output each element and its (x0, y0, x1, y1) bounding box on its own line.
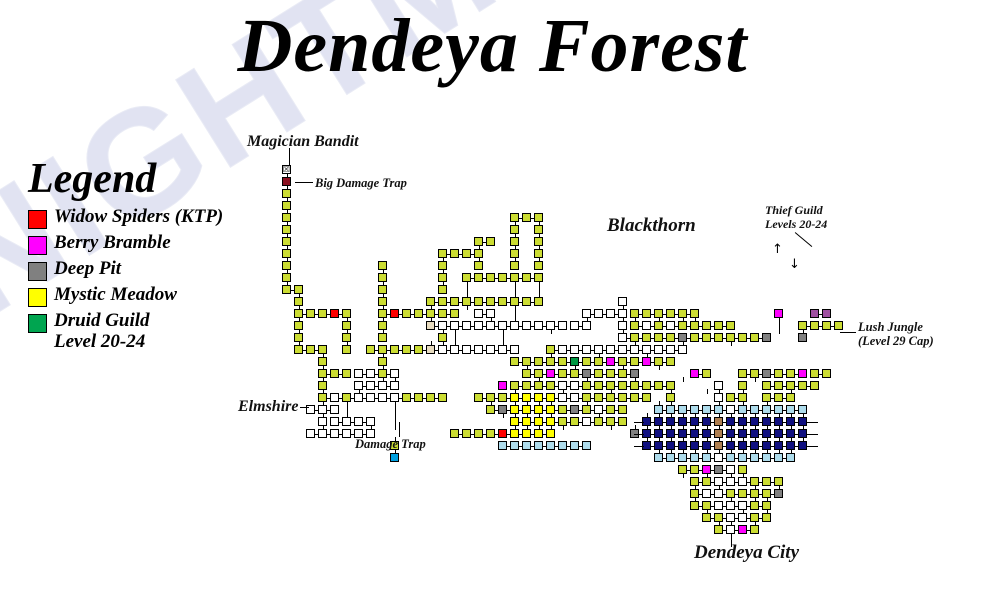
map-corridor (698, 434, 703, 435)
map-corridor (578, 362, 583, 363)
map-corridor (719, 437, 720, 442)
room-south-5[interactable] (762, 513, 771, 522)
map-corridor (638, 398, 643, 399)
map-corridor (566, 446, 571, 447)
room-wc-long[interactable] (438, 393, 447, 402)
room-cw-7[interactable] (618, 417, 627, 426)
map-corridor (506, 446, 511, 447)
room-mc-r[interactable] (534, 261, 543, 270)
map-corridor (602, 410, 607, 411)
room-mc-b[interactable] (474, 261, 483, 270)
map-corridor (626, 374, 631, 375)
map-corridor (674, 458, 679, 459)
map-corridor (614, 362, 619, 363)
room-cw-3b[interactable] (702, 369, 711, 378)
map-corridor (590, 374, 595, 375)
map-corridor (719, 401, 720, 406)
map-corridor (698, 422, 703, 423)
city-exit (806, 446, 818, 447)
map-corridor (518, 398, 523, 399)
map-corridor (755, 377, 756, 382)
map-corridor (719, 413, 720, 418)
map-corridor (287, 209, 288, 214)
map-corridor (458, 302, 463, 303)
map-corridor (743, 401, 744, 406)
map-corridor (662, 434, 667, 435)
map-corridor (695, 413, 696, 418)
map-corridor (707, 449, 708, 454)
map-corridor (662, 326, 667, 327)
map-corridor (482, 326, 487, 327)
map-corridor (530, 410, 535, 411)
map-corridor (626, 398, 631, 399)
map-corridor (470, 350, 475, 351)
map-corridor (566, 398, 571, 399)
room-south-6[interactable] (750, 525, 759, 534)
map-corridor (734, 530, 739, 531)
map-corridor (710, 422, 715, 423)
room-city-south-11[interactable] (786, 453, 795, 462)
map-corridor (731, 449, 732, 454)
room-ne-row3[interactable] (762, 333, 771, 342)
map-corridor (647, 425, 648, 430)
map-corridor (770, 398, 775, 399)
room-ne-row2[interactable] (726, 321, 735, 330)
map-corridor (398, 398, 403, 399)
map-corridor (659, 437, 660, 442)
room-mc-stem[interactable] (510, 261, 519, 270)
map-corridor (671, 449, 672, 454)
map-corridor (674, 326, 679, 327)
label-dendeya-city: Dendeya City (694, 542, 799, 564)
map-corridor (566, 410, 571, 411)
room-lj-3[interactable] (786, 393, 795, 402)
map-corridor (566, 374, 571, 375)
map-corridor (803, 413, 804, 418)
room-cw-1[interactable] (678, 345, 687, 354)
map-corridor (719, 389, 720, 394)
map-corridor (443, 257, 444, 262)
map-corridor (326, 314, 331, 315)
map-corridor (494, 434, 499, 435)
map-corridor (806, 326, 811, 327)
map-corridor (527, 413, 528, 418)
map-corridor (650, 338, 655, 339)
room-mc-c[interactable] (474, 249, 483, 258)
map-corridor (326, 434, 331, 435)
map-corridor (710, 518, 715, 519)
arrow-up-icon: ↑ (772, 243, 783, 256)
map-corridor (287, 221, 288, 226)
map-corridor (758, 506, 763, 507)
map-corridor (302, 314, 307, 315)
map-corridor (482, 302, 487, 303)
map-corridor (770, 482, 775, 483)
map-corridor (470, 254, 475, 255)
map-corridor (446, 314, 451, 315)
map-corridor (650, 422, 655, 423)
city-exit (634, 446, 644, 447)
map-corridor (770, 494, 775, 495)
map-corridor (674, 350, 679, 351)
map-corridor (734, 338, 739, 339)
map-corridor (686, 470, 691, 471)
map-corridor (455, 329, 456, 346)
map-corridor (698, 338, 703, 339)
map-corridor (683, 449, 684, 454)
room-thief-guild[interactable] (822, 309, 831, 318)
map-corridor (482, 278, 487, 279)
map-corridor (710, 458, 715, 459)
map-corridor (746, 410, 751, 411)
map-corridor (350, 434, 355, 435)
map-corridor (551, 413, 552, 418)
map-corridor (710, 506, 715, 507)
map-corridor (434, 350, 439, 351)
map-corridor (770, 422, 775, 423)
map-corridor (470, 278, 475, 279)
leader-damage-trap (399, 422, 400, 437)
map-corridor (539, 245, 540, 250)
map-corridor (527, 425, 528, 430)
map-corridor (527, 401, 528, 406)
map-corridor (647, 437, 648, 442)
map-corridor (782, 422, 787, 423)
map-corridor (722, 482, 727, 483)
map-corridor (614, 410, 619, 411)
map-corridor (494, 302, 499, 303)
map-corridor (383, 293, 384, 298)
map-corridor (698, 494, 703, 495)
map-corridor (710, 494, 715, 495)
leader-lush-jungle (840, 332, 856, 333)
map-corridor (710, 434, 715, 435)
map-corridor (326, 398, 331, 399)
map-corridor (722, 530, 727, 531)
map-corridor (590, 350, 595, 351)
dungeon-map[interactable]: ☒ (0, 0, 985, 591)
map-corridor (287, 233, 288, 238)
map-corridor (734, 494, 739, 495)
map-corridor (782, 458, 787, 459)
room-wc-white[interactable] (510, 345, 519, 354)
map-corridor (722, 518, 727, 519)
map-corridor (434, 398, 439, 399)
map-corridor (722, 326, 727, 327)
map-corridor (722, 446, 727, 447)
map-corridor (794, 410, 799, 411)
map-corridor (770, 374, 775, 375)
map-corridor (722, 458, 727, 459)
map-corridor (590, 314, 595, 315)
map-corridor (602, 362, 607, 363)
map-corridor (398, 350, 403, 351)
map-corridor (770, 434, 775, 435)
map-corridor (794, 446, 799, 447)
map-corridor (671, 401, 672, 406)
map-corridor (362, 398, 367, 399)
map-corridor (710, 326, 715, 327)
map-corridor (539, 401, 540, 406)
map-corridor (506, 302, 511, 303)
map-corridor (794, 422, 799, 423)
map-corridor (554, 446, 559, 447)
room-cw-6[interactable] (618, 405, 627, 414)
room-wc-l[interactable] (378, 333, 387, 342)
map-corridor (506, 326, 511, 327)
room-mc-d[interactable] (438, 285, 447, 294)
map-corridor (326, 374, 331, 375)
map-corridor (779, 437, 780, 442)
map-corridor (734, 446, 739, 447)
map-corridor (467, 281, 468, 298)
map-corridor (650, 434, 655, 435)
room-lj-1[interactable] (810, 381, 819, 390)
map-corridor (671, 437, 672, 442)
map-corridor (674, 422, 679, 423)
room-lightblue-row[interactable] (582, 441, 591, 450)
map-corridor (611, 425, 612, 430)
map-corridor (530, 386, 535, 387)
map-corridor (803, 437, 804, 442)
map-corridor (662, 410, 667, 411)
map-corridor (662, 362, 667, 363)
map-corridor (458, 326, 463, 327)
map-corridor (746, 374, 751, 375)
map-corridor (758, 410, 763, 411)
map-corridor (734, 482, 739, 483)
room-wc-white3[interactable] (390, 381, 399, 390)
map-corridor (686, 434, 691, 435)
room-damage-trap[interactable] (390, 453, 399, 462)
map-corridor (746, 458, 751, 459)
room-cw-5[interactable] (642, 393, 651, 402)
map-corridor (482, 350, 487, 351)
map-corridor (746, 434, 751, 435)
map-corridor (566, 422, 571, 423)
room-mc-a[interactable] (486, 237, 495, 246)
map-corridor (446, 350, 451, 351)
map-corridor (494, 278, 499, 279)
map-corridor (722, 470, 727, 471)
map-corridor (467, 305, 468, 310)
map-corridor (515, 413, 516, 418)
map-corridor (518, 302, 523, 303)
map-corridor (674, 314, 679, 315)
map-corridor (386, 386, 391, 387)
room-lj-5[interactable] (822, 369, 831, 378)
map-corridor (482, 314, 487, 315)
room-bramble-w[interactable] (498, 381, 507, 390)
map-corridor (542, 374, 547, 375)
map-corridor (590, 398, 595, 399)
map-corridor (299, 329, 300, 334)
map-corridor (743, 425, 744, 430)
map-corridor (758, 434, 763, 435)
map-corridor (683, 437, 684, 442)
map-corridor (707, 425, 708, 430)
map-corridor (578, 410, 583, 411)
map-corridor (374, 386, 379, 387)
map-corridor (659, 413, 660, 418)
map-corridor (779, 317, 780, 334)
map-corridor (590, 422, 595, 423)
map-corridor (470, 326, 475, 327)
map-corridor (539, 413, 540, 418)
map-corridor (542, 362, 547, 363)
map-corridor (383, 269, 384, 274)
map-corridor (530, 302, 535, 303)
map-corridor (503, 413, 504, 418)
map-corridor (662, 446, 667, 447)
map-corridor (530, 278, 535, 279)
map-corridor (518, 326, 523, 327)
map-corridor (410, 350, 415, 351)
map-corridor (287, 257, 288, 262)
room-cw-2[interactable] (666, 357, 675, 366)
room-nw-right[interactable] (342, 345, 351, 354)
map-corridor (347, 317, 348, 322)
map-corridor (554, 326, 559, 327)
room-cw-3c[interactable] (798, 369, 807, 378)
map-corridor (683, 377, 684, 382)
map-corridor (494, 350, 499, 351)
map-corridor (383, 329, 384, 334)
map-corridor (734, 506, 739, 507)
map-corridor (518, 362, 523, 363)
map-corridor (410, 314, 415, 315)
city-exit (806, 422, 818, 423)
map-corridor (698, 458, 703, 459)
map-corridor (494, 398, 499, 399)
map-corridor (650, 386, 655, 387)
map-corridor (707, 389, 708, 394)
map-corridor (662, 350, 667, 351)
map-corridor (743, 389, 744, 394)
map-corridor (698, 326, 703, 327)
map-corridor (539, 221, 540, 226)
map-corridor (386, 398, 391, 399)
map-corridor (554, 386, 559, 387)
map-corridor (434, 326, 439, 327)
room-mc-f[interactable] (534, 297, 543, 306)
map-corridor (398, 314, 403, 315)
map-corridor (722, 422, 727, 423)
map-corridor (746, 506, 751, 507)
room-elmshire-2[interactable] (318, 405, 327, 414)
map-corridor (590, 362, 595, 363)
room-nw-d[interactable] (330, 405, 339, 414)
label-magician-bandit: Magician Bandit (247, 133, 359, 151)
room-nw-b[interactable] (342, 369, 351, 378)
map-corridor (518, 422, 523, 423)
leader-elmshire (300, 407, 309, 408)
room-mc-white-row[interactable] (558, 321, 567, 330)
map-corridor (650, 326, 655, 327)
map-corridor (518, 446, 523, 447)
map-corridor (287, 197, 288, 202)
map-corridor (746, 422, 751, 423)
map-corridor (779, 449, 780, 454)
leader-big-damage-trap (295, 182, 313, 183)
map-corridor (590, 386, 595, 387)
room-pit-ne[interactable] (798, 333, 807, 342)
map-corridor (686, 446, 691, 447)
arrow-down-icon: ↓ (789, 258, 800, 271)
map-corridor (746, 482, 751, 483)
map-corridor (614, 374, 619, 375)
map-corridor (602, 374, 607, 375)
map-corridor (530, 446, 535, 447)
map-corridor (530, 422, 535, 423)
map-corridor (755, 413, 756, 418)
map-corridor (686, 326, 691, 327)
map-corridor (614, 314, 619, 315)
map-corridor (671, 425, 672, 430)
map-corridor (542, 410, 547, 411)
room-bt-row2[interactable] (582, 321, 591, 330)
map-corridor (539, 425, 540, 430)
map-corridor (482, 434, 487, 435)
map-corridor (743, 437, 744, 442)
room-mystic-meadow[interactable] (546, 429, 555, 438)
map-corridor (506, 278, 511, 279)
room-ne-thief-row[interactable] (834, 321, 843, 330)
map-corridor (638, 338, 643, 339)
map-corridor (410, 398, 415, 399)
map-corridor (539, 257, 540, 262)
map-corridor (458, 434, 463, 435)
map-corridor (626, 362, 631, 363)
map-corridor (542, 446, 547, 447)
map-corridor (287, 245, 288, 250)
map-corridor (650, 314, 655, 315)
map-corridor (626, 338, 631, 339)
map-corridor (686, 338, 691, 339)
map-corridor (494, 326, 499, 327)
map-corridor (770, 458, 775, 459)
map-corridor (530, 398, 535, 399)
map-corridor (731, 425, 732, 430)
room-south-3[interactable] (774, 489, 783, 498)
map-corridor (614, 398, 619, 399)
city-exit (634, 434, 644, 435)
map-corridor (347, 401, 348, 418)
map-corridor (515, 233, 516, 238)
map-corridor (767, 449, 768, 454)
map-corridor (362, 434, 367, 435)
map-corridor (674, 410, 679, 411)
map-corridor (818, 374, 823, 375)
map-corridor (734, 410, 739, 411)
map-corridor (287, 185, 288, 190)
map-corridor (314, 350, 319, 351)
map-corridor (614, 422, 619, 423)
map-corridor (755, 437, 756, 442)
map-corridor (578, 374, 583, 375)
map-corridor (650, 350, 655, 351)
room-mc-g[interactable] (450, 309, 459, 318)
map-corridor (578, 326, 583, 327)
map-corridor (731, 437, 732, 442)
map-corridor (767, 437, 768, 442)
map-corridor (779, 413, 780, 418)
map-corridor (758, 458, 763, 459)
map-corridor (674, 434, 679, 435)
map-corridor (314, 314, 319, 315)
map-corridor (746, 518, 751, 519)
map-corridor (554, 374, 559, 375)
